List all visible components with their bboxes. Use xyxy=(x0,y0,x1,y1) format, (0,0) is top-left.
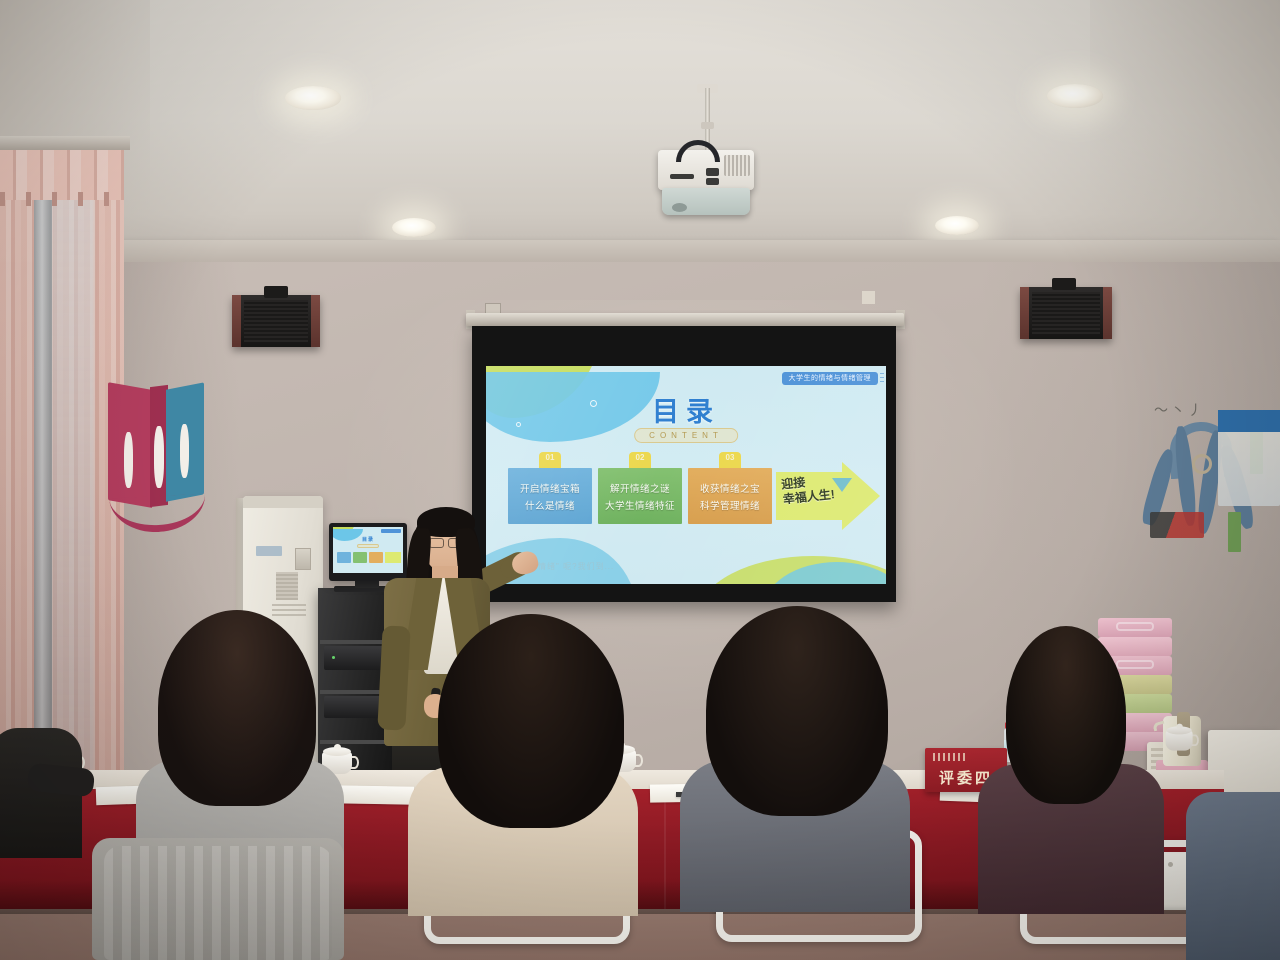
monitor-slide-box-1 xyxy=(337,552,351,563)
speaker-side-left xyxy=(232,295,241,347)
ac-brand-badge xyxy=(256,546,282,556)
left-speaker-bracket xyxy=(264,286,288,298)
monitor-slide-box-3 xyxy=(369,552,383,563)
ceiling-right-shade xyxy=(1090,0,1280,268)
audience-4-hair xyxy=(1006,626,1126,804)
monitor-screen: 目录 xyxy=(333,527,403,573)
speaker-grille xyxy=(1032,292,1100,334)
projector-port-2 xyxy=(706,178,719,185)
window-curtain-area xyxy=(0,140,124,780)
heart-center-circle xyxy=(1192,454,1212,474)
pin-number: 01 xyxy=(539,453,561,462)
stool-1 xyxy=(1098,618,1172,637)
slide-section-box-2: 解开情绪之谜 大学生情绪特征 xyxy=(598,468,682,524)
right-speaker-bracket xyxy=(1052,278,1076,290)
monitor-slide-tag xyxy=(381,529,401,533)
speaker-side-left xyxy=(1020,287,1029,339)
wall-notice-board-header xyxy=(1218,410,1280,432)
ac-label-text xyxy=(272,604,306,616)
mural-logo-badge xyxy=(1150,512,1204,538)
slide-subtitle: CONTENT xyxy=(634,428,738,443)
stool-slot xyxy=(1116,622,1154,631)
audience-1-hair xyxy=(158,610,316,806)
slide-corner-dots xyxy=(880,373,884,385)
speaker-grille xyxy=(244,300,308,342)
ceiling xyxy=(0,0,1280,268)
chair-rivet xyxy=(1168,862,1173,867)
book-figure-2 xyxy=(154,426,164,488)
audience-1-knit-blanket xyxy=(104,846,332,960)
slide-section-box-1: 开启情绪宝箱 什么是情绪 xyxy=(508,468,592,524)
section-1-line2: 什么是情绪 xyxy=(525,498,575,512)
presenter-glasses-left xyxy=(429,538,444,548)
ceiling-downlight-2 xyxy=(1047,84,1103,108)
attendee-right-torso xyxy=(1186,792,1280,960)
ac-vent-grille xyxy=(276,572,298,600)
audience-2-hair xyxy=(438,614,624,828)
audience-3-hair xyxy=(706,606,888,816)
monitor-slide-arrow xyxy=(385,552,401,563)
left-wall-speaker xyxy=(232,295,320,347)
section-3-line2: 科学管理情绪 xyxy=(700,498,760,512)
ac-unit-top xyxy=(243,496,323,508)
ceiling-downlight-4 xyxy=(935,216,979,235)
book-figure-1 xyxy=(124,432,133,488)
section-2-line2: 大学生情绪特征 xyxy=(605,498,675,512)
pin-number: 02 xyxy=(629,453,651,462)
speaker-side-right xyxy=(1103,287,1112,339)
ceiling-downlight-3 xyxy=(392,218,436,237)
ac-control-panel xyxy=(295,548,311,570)
projector-vent xyxy=(724,155,750,176)
wall-socket-right xyxy=(862,291,875,304)
cart-device-led xyxy=(332,656,335,659)
book-figure-3 xyxy=(180,424,189,478)
ceiling-downlight-1 xyxy=(285,86,341,110)
book-ribbon xyxy=(109,494,207,535)
teacup-4 xyxy=(1164,724,1196,753)
monitor-slide-box-2 xyxy=(353,552,367,563)
nameplate-logo xyxy=(933,753,967,761)
presenter-left-arm xyxy=(377,625,410,730)
stool-slot xyxy=(1116,660,1154,669)
slide-section-box-3: 收获情绪之宝 科学管理情绪 xyxy=(688,468,772,524)
classroom-photo-scene: 〜丶丿 大学生的情绪与情绪管 xyxy=(0,0,1280,960)
curtain-rod xyxy=(0,136,130,150)
monitor-slide-title: 目录 xyxy=(333,536,403,543)
pin-number: 03 xyxy=(719,453,741,462)
screen-roller-housing xyxy=(466,313,904,326)
curtain-shading xyxy=(0,140,124,780)
section-3-line1: 收获情绪之宝 xyxy=(700,481,760,495)
projector-mount-bracket xyxy=(701,122,714,129)
slide-header-tag: 大学生的情绪与情绪管理 xyxy=(782,372,879,385)
monitor-slide-pill xyxy=(357,544,379,548)
speaker-side-right xyxy=(311,295,320,347)
projector-port-row xyxy=(670,174,694,179)
right-wall-speaker xyxy=(1020,287,1112,339)
mural-green-banner-2 xyxy=(1228,512,1241,552)
section-2-line1: 解开情绪之谜 xyxy=(610,481,670,495)
projector-lens xyxy=(672,203,687,212)
presenter-monitor: 目录 xyxy=(329,523,407,581)
cup-knob xyxy=(334,744,341,750)
presentation-slide: 大学生的情绪与情绪管理 目录 CONTENT 01 02 03 开启情绪宝箱 什… xyxy=(486,366,886,584)
section-1-line1: 开启情绪宝箱 xyxy=(520,481,580,495)
cup-knob xyxy=(1176,724,1182,729)
slide-title: 目录 xyxy=(486,390,886,429)
open-book-mural xyxy=(108,386,204,536)
projector-port-1 xyxy=(706,168,719,176)
slide-arrow-graphic: 迎接 幸福人生! xyxy=(776,462,880,530)
